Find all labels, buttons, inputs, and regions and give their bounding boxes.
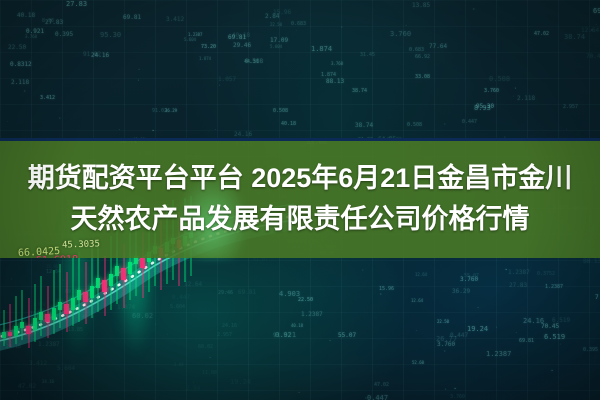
candle-body (83, 292, 88, 302)
candle (45, 286, 50, 356)
candle-body (77, 290, 81, 300)
candle-wick (54, 270, 55, 334)
candle (121, 244, 126, 356)
candle (52, 270, 56, 356)
candle (26, 298, 31, 356)
candle-body (14, 326, 18, 336)
candle (64, 272, 69, 356)
candle-body (128, 262, 132, 274)
page-title-line-2: 天然农产品发展有限责任公司价格行情 (0, 199, 600, 240)
candle-body (20, 322, 24, 328)
candle (90, 246, 94, 356)
candle-wick (10, 304, 11, 347)
page-title-line-1: 期货配资平台平台 2025年6月21日金昌市金川 (0, 158, 600, 199)
candle (102, 256, 107, 356)
candle-body (33, 318, 37, 330)
candle-body (140, 258, 145, 268)
candle (20, 290, 24, 356)
candle (2, 310, 6, 356)
candle-wick (41, 276, 42, 336)
candle-wick (35, 284, 36, 342)
candle-body (121, 268, 126, 280)
candle-body (39, 312, 43, 320)
candle-wick (22, 290, 23, 340)
candle (58, 264, 62, 356)
candle-body (52, 308, 56, 320)
candle-body (102, 280, 107, 292)
candle-wick (4, 310, 5, 346)
candle (83, 262, 88, 356)
candle (8, 304, 12, 356)
candle-body (2, 332, 6, 338)
candle-wick (66, 272, 67, 332)
candle (39, 276, 43, 356)
candle-wick (16, 296, 17, 344)
candle (77, 252, 81, 356)
candle-body (109, 274, 113, 286)
band-visible-number: 51.6918 (36, 254, 79, 258)
candle (33, 284, 37, 356)
candle-body (8, 332, 12, 336)
candle-body (115, 266, 119, 276)
screenshot-canvas: 19.240.6831.87422.5022.5011.0812.64···55… (0, 0, 600, 400)
candle-wick (60, 264, 61, 328)
candle-body (58, 302, 62, 310)
candle-wick (79, 252, 80, 322)
candle-body (45, 314, 50, 322)
candle-body (90, 286, 94, 298)
candle-wick (47, 286, 48, 338)
candle-body (64, 304, 69, 314)
candle (71, 258, 75, 356)
candle-body (96, 278, 100, 288)
candle-wick (28, 298, 29, 348)
band-visible-number: 45.3035 (62, 239, 100, 250)
candle (14, 296, 18, 356)
candle-wick (73, 258, 74, 326)
page-title: 期货配资平台平台 2025年6月21日金昌市金川 天然农产品发展有限责任公司价格… (0, 158, 600, 240)
band-visible-number: 66.0425 (18, 246, 61, 258)
candle-body (71, 298, 75, 310)
candle-body (26, 326, 31, 334)
